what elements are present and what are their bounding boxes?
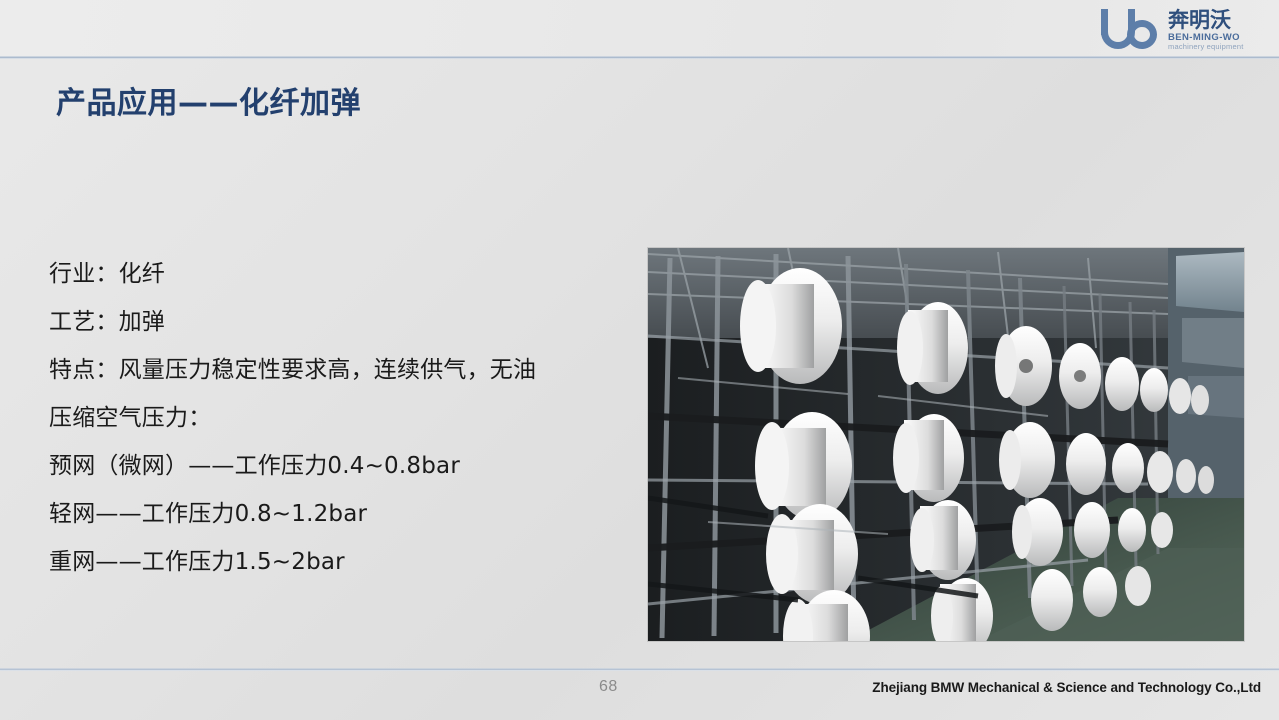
body-line-light-network: 轻网——工作压力0.8~1.2bar	[49, 490, 609, 538]
logo-romanized-name: BEN-MING-WO	[1168, 33, 1244, 43]
logo-chinese-name: 奔明沃	[1168, 9, 1244, 31]
header-divider-line	[0, 56, 1279, 59]
logo-tagline: machinery equipment	[1168, 43, 1244, 51]
body-text-block: 行业：化纤 工艺：加弹 特点：风量压力稳定性要求高，连续供气，无油 压缩空气压力…	[49, 250, 609, 586]
body-line-industry: 行业：化纤	[49, 250, 609, 298]
company-logo: 奔明沃 BEN-MING-WO machinery equipment	[1101, 3, 1265, 55]
logo-text-block: 奔明沃 BEN-MING-WO machinery equipment	[1168, 7, 1244, 50]
page-title: 产品应用——化纤加弹	[56, 78, 361, 122]
footer-company-name: Zhejiang BMW Mechanical & Science and Te…	[872, 680, 1261, 695]
header-band	[0, 0, 1279, 58]
presentation-slide: 奔明沃 BEN-MING-WO machinery equipment 产品应用…	[0, 0, 1279, 720]
bo-monogram-icon	[1101, 9, 1163, 49]
body-line-process: 工艺：加弹	[49, 298, 609, 346]
page-number: 68	[599, 678, 618, 696]
body-line-heavy-network: 重网——工作压力1.5~2bar	[49, 538, 609, 586]
body-line-pressure-heading: 压缩空气压力：	[49, 394, 609, 442]
body-line-pre-network: 预网（微网）——工作压力0.4~0.8bar	[49, 442, 609, 490]
factory-illustration	[648, 248, 1244, 641]
footer-divider-line	[0, 668, 1279, 671]
textile-factory-photo	[648, 248, 1244, 641]
body-line-features: 特点：风量压力稳定性要求高，连续供气，无油	[49, 346, 609, 394]
